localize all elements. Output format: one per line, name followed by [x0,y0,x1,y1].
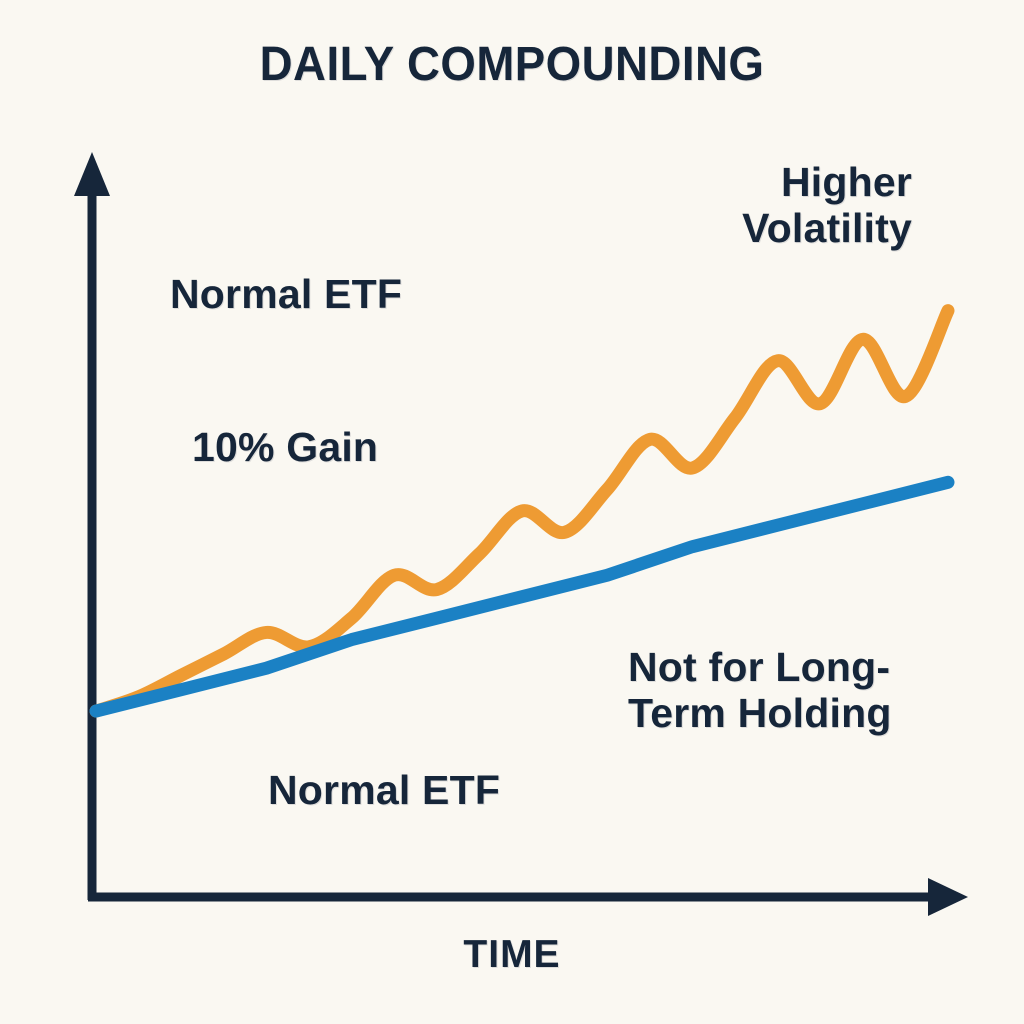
x-axis-label: TIME [0,933,1024,977]
annotation-higher-volatility: Higher Volatility [742,160,912,252]
annotation-normal-etf-bottom: Normal ETF [268,768,500,814]
chart-canvas: DAILY COMPOUNDING Normal ETF 10% Gain Hi… [0,0,1024,1024]
y-axis-arrowhead [74,152,110,196]
annotation-ten-percent-gain: 10% Gain [192,425,378,471]
page-title: DAILY COMPOUNDING [26,38,999,92]
annotation-not-for-long-term-holding: Not for Long- Term Holding [628,645,892,737]
line-chart-graphic [0,0,1024,1024]
chart-axes [74,152,968,916]
annotation-normal-etf-top: Normal ETF [170,272,402,318]
x-axis-arrowhead [928,878,968,916]
